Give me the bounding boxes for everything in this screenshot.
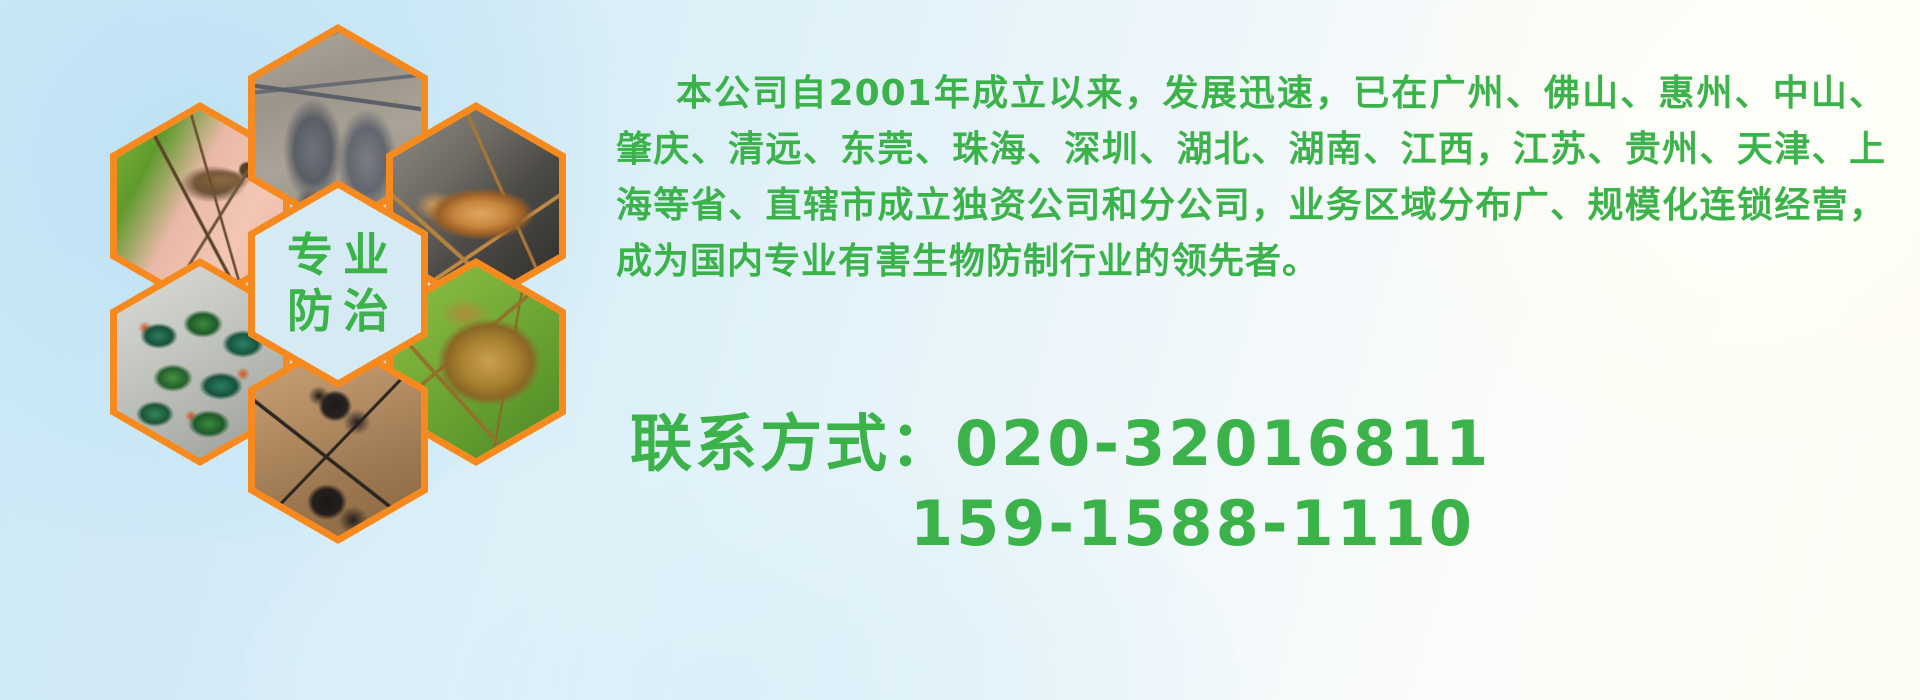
center-badge-line-2: 防治 [277,287,399,337]
promo-banner: 专业 防治 本公司自2001年成立以来，发展迅速，已在广州、佛山、惠州、中山、肇… [0,0,1920,700]
company-intro-block: 本公司自2001年成立以来，发展迅速，已在广州、佛山、惠州、中山、肇庆、清远、东… [616,30,1886,326]
contact-block: 联系方式：020-32016811 159-1588-1110 [616,404,1886,564]
center-badge-line-1: 专业 [277,231,399,281]
hex-inner-center-badge: 专业 防治 [255,188,421,380]
honeycomb-collage: 专业 防治 [84,0,604,584]
contact-landline-line[interactable]: 联系方式：020-32016811 [616,404,1886,484]
contact-mobile-line[interactable]: 159-1588-1110 [616,484,1886,564]
company-intro-paragraph: 本公司自2001年成立以来，发展迅速，已在广州、佛山、惠州、中山、肇庆、清远、东… [616,66,1886,290]
